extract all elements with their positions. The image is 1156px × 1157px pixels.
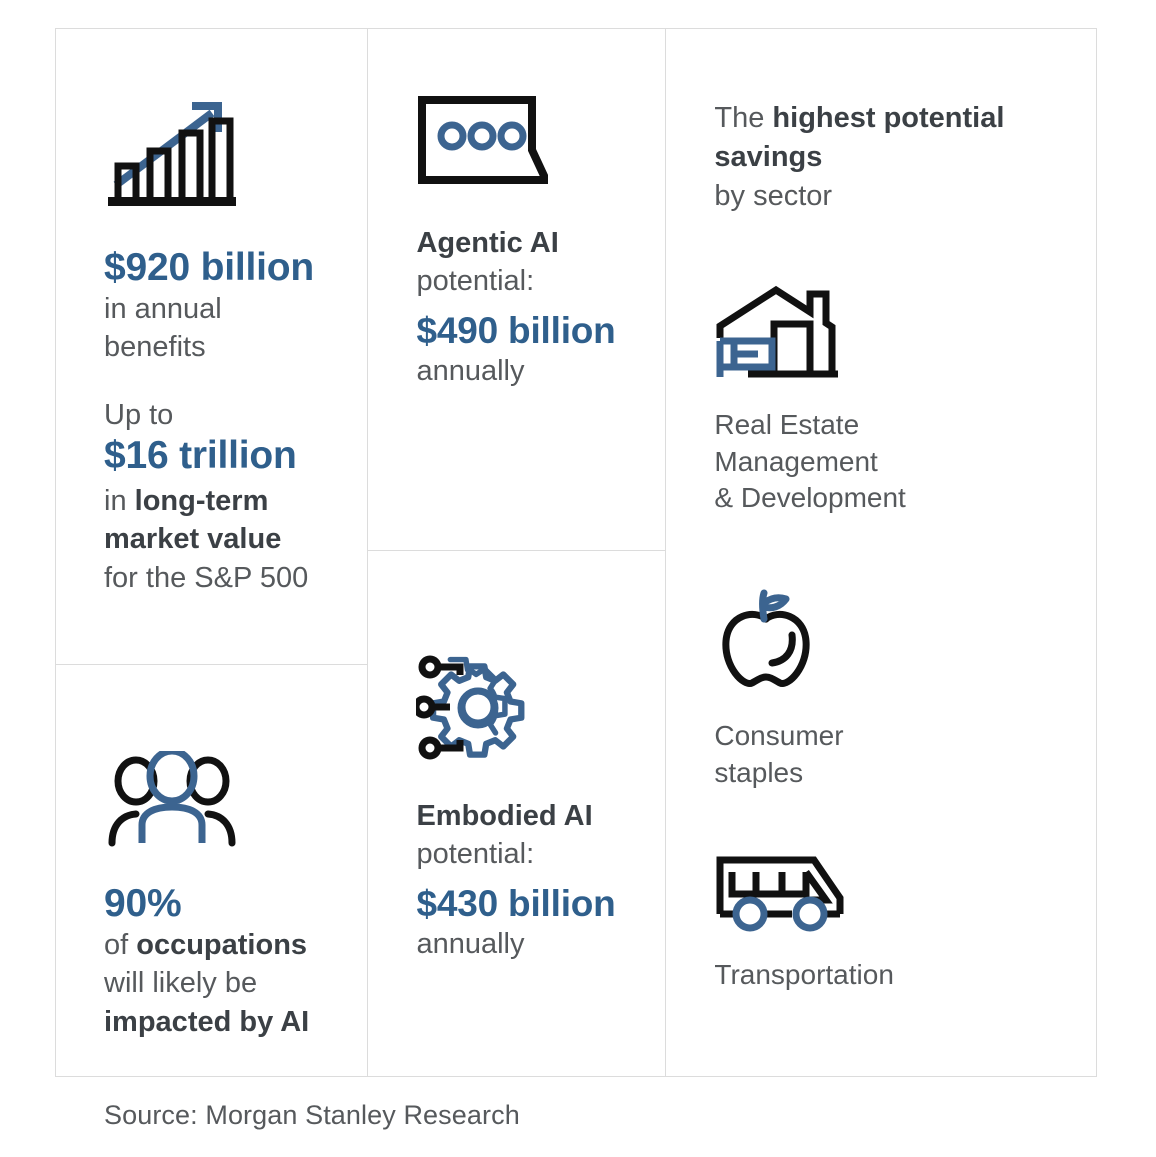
- gear-nodes-icon: [416, 651, 617, 768]
- stat-annual-benefits-value: $920 billion: [104, 246, 319, 290]
- source-attribution: Source: Morgan Stanley Research: [104, 1100, 520, 1131]
- growth-bar-chart-icon: [104, 93, 319, 216]
- column-middle: Agentic AI potential: $490 billion annua…: [368, 29, 666, 1076]
- stat-embodied-value: $430 billion: [416, 883, 617, 924]
- occ-prefix: of: [104, 929, 136, 961]
- panel-embodied-ai: Embodied AI potential: $430 billion annu…: [368, 551, 665, 1076]
- sector-label-transportation: Transportation: [714, 957, 1048, 994]
- column-right: The highest potential savings by sector: [666, 29, 1096, 1076]
- sector-label-line-3: & Development: [714, 482, 905, 513]
- apple-icon: [714, 589, 1048, 698]
- sector-item-real-estate: Real Estate Management & Development: [714, 282, 1048, 518]
- sector-label-consumer-staples: Consumer staples: [714, 718, 1048, 792]
- sector-label-line-1: Consumer: [714, 720, 843, 751]
- stat-embodied-caption: annually: [416, 925, 617, 963]
- market-value-lead-in: Up to: [104, 396, 319, 434]
- sector-label-line-1: Real Estate: [714, 409, 859, 440]
- desc-prefix: in: [104, 485, 135, 517]
- agentic-title: Agentic AI: [416, 225, 617, 263]
- market-value-description: in long-term market value for the S&P 50…: [104, 482, 319, 597]
- occ-line-2: will likely be: [104, 967, 257, 999]
- sector-item-consumer-staples: Consumer staples: [714, 589, 1048, 792]
- people-group-icon: [104, 751, 319, 852]
- panel-grid: $920 billion in annual benefits Up to $1…: [55, 28, 1097, 1077]
- bus-icon: [714, 854, 1048, 937]
- desc-suffix: for the S&P 500: [104, 562, 308, 594]
- occ-bold-occupations: occupations: [136, 929, 307, 961]
- sector-label-real-estate: Real Estate Management & Development: [714, 407, 1048, 518]
- infographic-root: $920 billion in annual benefits Up to $1…: [0, 0, 1156, 1157]
- occ-bold-impacted: impacted by AI: [104, 1006, 309, 1038]
- panel-sectors: The highest potential savings by sector: [666, 29, 1096, 1076]
- sectors-heading-suffix: by sector: [714, 180, 832, 212]
- stat-annual-benefits-caption: in annual benefits: [104, 290, 319, 367]
- column-left: $920 billion in annual benefits Up to $1…: [56, 29, 368, 1076]
- occupations-description: of occupations will likely be impacted b…: [104, 926, 319, 1041]
- stat-occupations-percent: 90%: [104, 882, 319, 926]
- sector-label-line-2: staples: [714, 757, 803, 788]
- speech-bubble-dots-icon: [416, 94, 617, 195]
- panel-agentic-ai: Agentic AI potential: $490 billion annua…: [368, 29, 665, 551]
- sector-label-line-2: Management: [714, 446, 877, 477]
- panel-occupations: 90% of occupations will likely be impact…: [56, 665, 367, 1076]
- stat-agentic-caption: annually: [416, 352, 617, 390]
- agentic-subtitle: potential:: [416, 263, 617, 301]
- sectors-heading: The highest potential savings by sector: [714, 99, 1048, 216]
- sector-item-transportation: Transportation: [714, 854, 1048, 994]
- stat-agentic-value: $490 billion: [416, 310, 617, 351]
- stat-market-value: $16 trillion: [104, 434, 319, 478]
- desc-bold-long-term: long-term: [135, 485, 269, 517]
- desc-bold-market-value: market value: [104, 523, 281, 555]
- embodied-title: Embodied AI: [416, 798, 617, 836]
- embodied-subtitle: potential:: [416, 836, 617, 874]
- panel-annual-benefits: $920 billion in annual benefits Up to $1…: [56, 29, 367, 665]
- sectors-heading-prefix: The: [714, 102, 772, 134]
- house-for-sale-icon: [714, 282, 1048, 387]
